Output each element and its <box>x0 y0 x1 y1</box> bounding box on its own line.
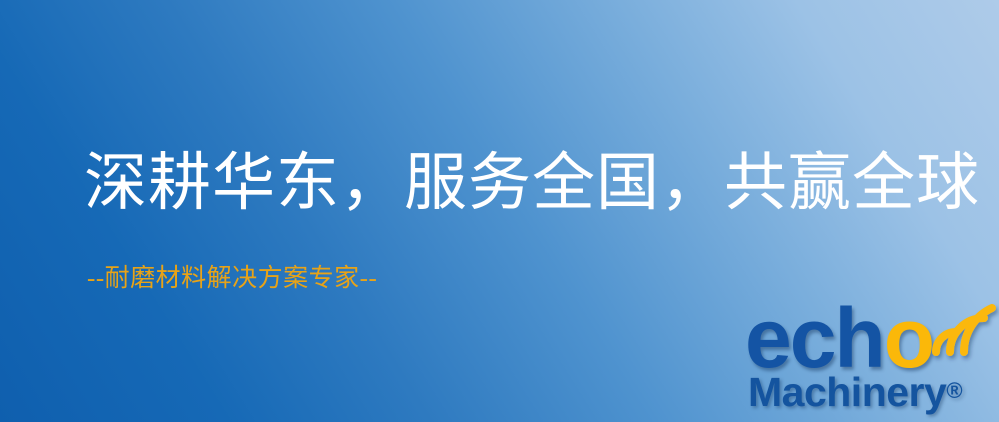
logo-subtext: Machinery® <box>748 372 963 413</box>
hero-banner: 深耕华东，服务全国，共赢全球 --耐磨材料解决方案专家-- echo Machi… <box>0 0 999 422</box>
logo-wordmark: echo <box>745 296 933 380</box>
logo-subtext-label: Machinery <box>748 369 946 415</box>
echo-machinery-logo: echo Machinery® <box>745 296 999 422</box>
banner-subtitle: --耐磨材料解决方案专家-- <box>87 266 377 291</box>
signal-waves-icon <box>930 294 996 356</box>
banner-headline: 深耕华东，服务全国，共赢全球 <box>84 152 980 215</box>
registered-trademark-icon: ® <box>946 378 962 403</box>
